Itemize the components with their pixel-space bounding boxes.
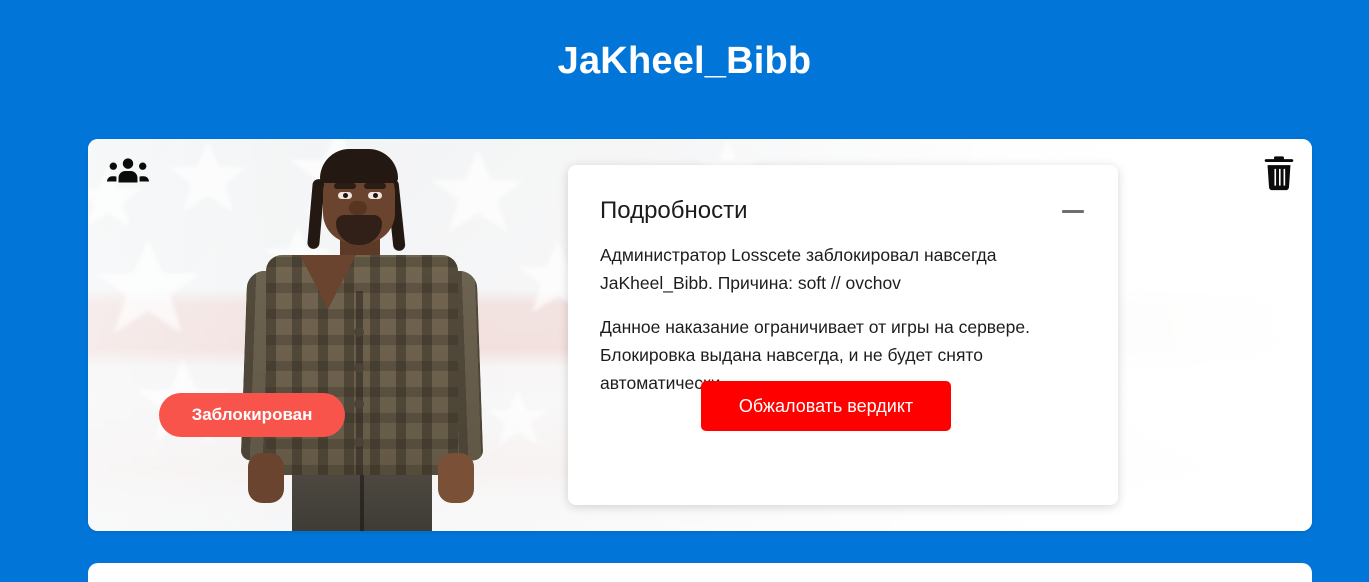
character-avatar-image — [228, 139, 498, 531]
minimize-dash-icon[interactable] — [1060, 198, 1086, 224]
users-group-icon[interactable] — [107, 155, 149, 189]
profile-card: Заблокирован Подробности Администратор L… — [88, 139, 1312, 531]
details-panel: Подробности Администратор Losscete забло… — [568, 165, 1118, 505]
secondary-card-peek — [88, 563, 1312, 582]
trash-delete-icon[interactable] — [1264, 155, 1294, 191]
ban-reason-text: Администратор Losscete заблокировал навс… — [600, 241, 1070, 297]
details-panel-header: Подробности — [600, 191, 1086, 231]
appeal-verdict-button[interactable]: Обжаловать вердикт — [701, 381, 951, 431]
status-badge: Заблокирован — [159, 393, 345, 437]
page-title: JaKheel_Bibb — [0, 36, 1369, 86]
details-panel-title: Подробности — [600, 195, 748, 227]
dash-bar — [1062, 210, 1084, 213]
